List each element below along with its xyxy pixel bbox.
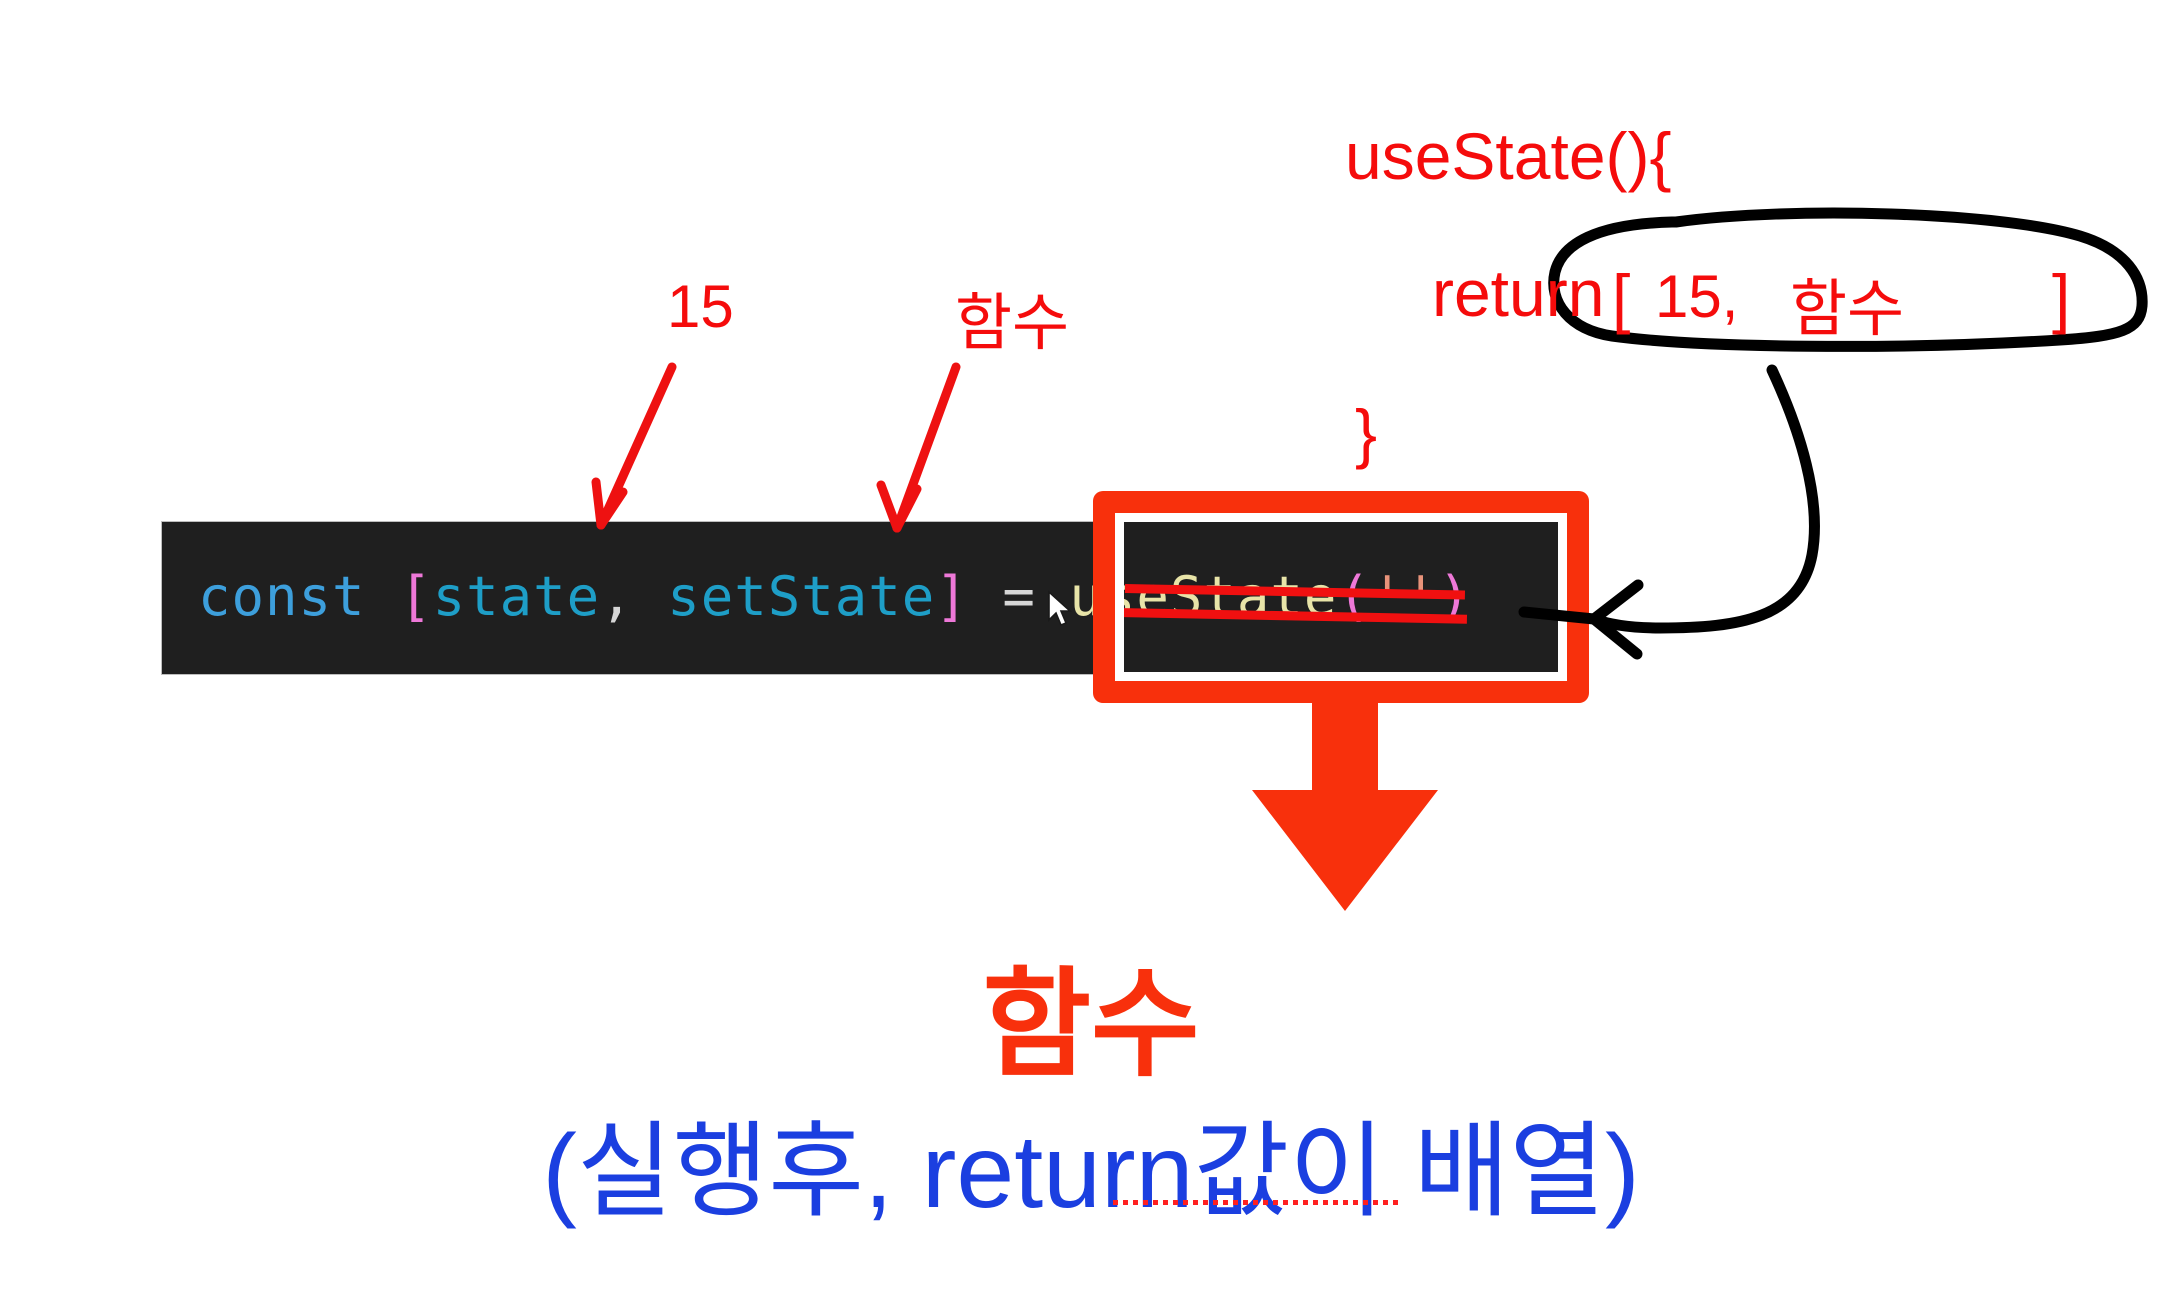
conclusion-description-prefix: (실행후,: [542, 1114, 921, 1230]
code-token-space: [634, 565, 668, 628]
pseudo-code-array-value: 15,: [1655, 262, 1738, 331]
pseudo-code-array-function: 함수: [1790, 258, 1904, 348]
code-token-setstate: setState: [667, 565, 935, 628]
red-arrow-to-setstate: [881, 367, 956, 528]
code-token-bracket-close: ]: [935, 565, 969, 628]
conclusion-description-spellchecked: return값이: [922, 1114, 1385, 1230]
red-highlight-box: [1093, 491, 1589, 703]
code-token-state: state: [433, 565, 601, 628]
code-token-space: [1036, 565, 1070, 628]
label-15: 15: [667, 272, 734, 341]
code-token-equals: =: [1002, 565, 1036, 628]
annotated-screenshot-canvas: const [state, setState] = useState(''): [0, 0, 2182, 1298]
red-arrow-to-state: [596, 367, 672, 525]
pseudo-code-bracket-close: ]: [2052, 260, 2070, 336]
pseudo-code-bracket-open: [: [1612, 260, 1630, 336]
label-hamsu-top: 함수: [955, 272, 1069, 362]
code-token-comma: ,: [600, 565, 634, 628]
code-token-space: [969, 565, 1003, 628]
code-token-space: [366, 565, 400, 628]
pseudo-code-return-keyword: return: [1432, 255, 1604, 331]
red-down-arrow-icon: [1250, 698, 1440, 913]
pseudo-code-signature: useState(){: [1345, 118, 1672, 194]
spellcheck-underline: [1113, 1200, 1403, 1205]
conclusion-description: (실행후, return값이 배열): [0, 1086, 2182, 1237]
code-token-keyword: const: [198, 565, 366, 628]
hand-drawn-connector: [1594, 370, 1814, 628]
conclusion-description-suffix: 배열): [1385, 1114, 1640, 1230]
pseudo-code-closing-brace: }: [1355, 395, 1377, 471]
conclusion-title: 함수: [0, 928, 2182, 1099]
code-token-bracket-open: [: [399, 565, 433, 628]
